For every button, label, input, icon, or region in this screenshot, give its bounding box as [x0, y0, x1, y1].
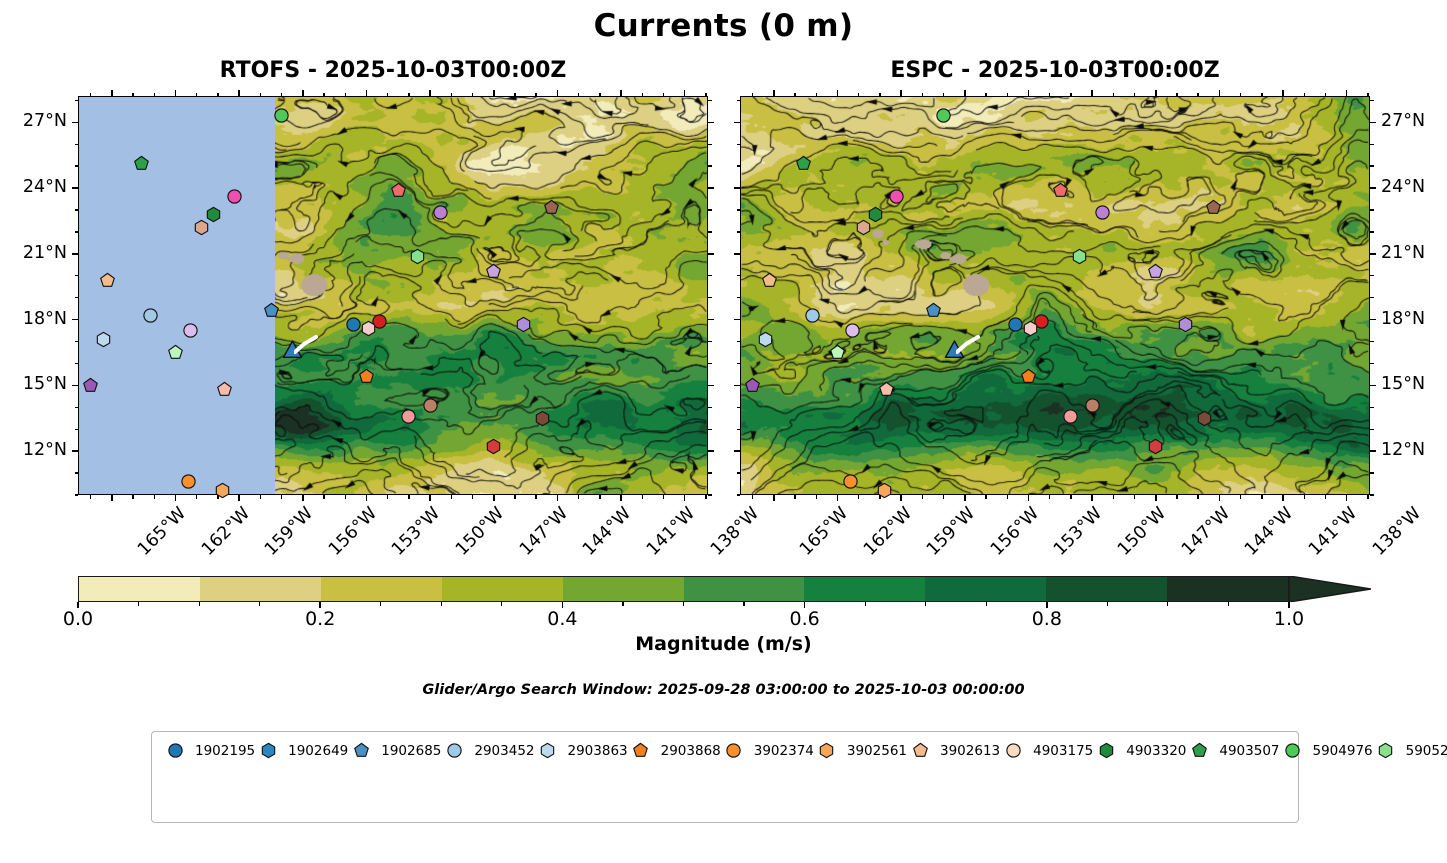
float-marker[interactable]	[879, 382, 894, 397]
legend-item[interactable]: 1902195	[162, 740, 255, 762]
ytick-label-left: 18°N	[0, 311, 67, 329]
xtick-minor-top	[985, 93, 986, 97]
ytick-major	[72, 187, 78, 189]
ytick-minor	[737, 363, 741, 364]
float-marker[interactable]	[1008, 317, 1023, 332]
xtick-minor-top	[1007, 93, 1008, 97]
float-legend[interactable]: 1902195190264919026852903452290386329038…	[151, 731, 1299, 823]
float-marker[interactable]	[217, 382, 232, 397]
xtick-major-top	[1028, 90, 1030, 96]
legend-item[interactable]: 5905270	[1373, 740, 1447, 762]
xtick-minor-top	[196, 93, 197, 97]
xtick-minor	[196, 495, 197, 499]
float-marker[interactable]	[758, 332, 773, 347]
xtick-minor-top	[752, 93, 753, 97]
colorbar	[78, 576, 1370, 602]
xtick-major	[1091, 495, 1093, 501]
ytick-minor	[708, 144, 712, 145]
xtick-major	[620, 495, 622, 501]
xtick-major	[302, 495, 304, 501]
xtick-minor	[1113, 495, 1114, 499]
colorbar-band	[684, 577, 805, 601]
circle-marker-icon	[1280, 743, 1306, 758]
float-marker[interactable]	[1072, 249, 1087, 264]
ytick-label-left: 27°N	[0, 113, 67, 131]
xtick-minor-top	[1070, 93, 1071, 97]
pentagon-marker-icon	[348, 743, 374, 758]
xtick-major-top	[1091, 90, 1093, 96]
xtick-major-top	[111, 90, 113, 96]
xtick-label: 147°W	[517, 505, 571, 559]
circle-marker-icon	[721, 743, 747, 758]
float-marker[interactable]	[889, 189, 904, 204]
xtick-label: 147°W	[1179, 505, 1233, 559]
float-marker[interactable]	[274, 108, 289, 123]
xtick-major-top	[557, 90, 559, 96]
ytick-minor	[75, 341, 79, 342]
xtick-minor-top	[599, 93, 600, 97]
xtick-minor	[663, 495, 664, 499]
colorbar-tick-minor	[1228, 602, 1229, 606]
ytick-minor	[75, 297, 79, 298]
figure-canvas: Currents (0 m) RTOFS - 2025-10-03T00:00Z…	[0, 0, 1447, 863]
ytick-minor	[708, 341, 712, 342]
glider-track-sg626	[294, 334, 334, 360]
legend-label: 5904976	[1313, 743, 1373, 759]
xtick-minor-top	[663, 93, 664, 97]
legend-item[interactable]: 3902561	[814, 740, 907, 762]
xtick-minor	[943, 495, 944, 499]
ytick-minor	[708, 209, 712, 210]
float-marker[interactable]	[168, 345, 183, 360]
xtick-minor-top	[1304, 93, 1305, 97]
xtick-minor	[154, 495, 155, 499]
ytick-minor	[1370, 100, 1374, 101]
xtick-major-top	[238, 90, 240, 96]
ytick-label-left: 21°N	[0, 245, 67, 263]
xtick-major	[1155, 495, 1157, 501]
figure-title: Currents (0 m)	[0, 8, 1447, 44]
hexagon-marker-icon	[814, 743, 840, 758]
ytick-minor	[737, 209, 741, 210]
float-marker[interactable]	[227, 189, 242, 204]
colorbar-tick-label: 0.2	[305, 608, 335, 630]
xtick-label: 162°W	[199, 505, 253, 559]
ytick-minor	[737, 407, 741, 408]
map-panel-espc[interactable]	[740, 96, 1370, 495]
float-marker[interactable]	[361, 321, 376, 336]
xtick-minor	[642, 495, 643, 499]
legend-label: 3902561	[847, 743, 907, 759]
legend-label: 4903320	[1126, 743, 1186, 759]
xtick-minor	[1049, 495, 1050, 499]
legend-grid: 1902195190264919026852903452290386329038…	[152, 738, 1298, 824]
float-marker[interactable]	[926, 303, 941, 318]
float-marker[interactable]	[1178, 317, 1193, 332]
xtick-minor	[90, 495, 91, 499]
xtick-minor-top	[260, 93, 261, 97]
legend-item[interactable]: 5904976	[1280, 740, 1373, 762]
ytick-minor	[1370, 231, 1374, 232]
ytick-major	[708, 253, 714, 255]
ytick-minor	[1370, 275, 1374, 276]
ytick-major	[734, 253, 740, 255]
ytick-major	[708, 385, 714, 387]
float-marker[interactable]	[843, 474, 858, 489]
colorbar-tick-minor	[683, 602, 684, 606]
ytick-major	[734, 385, 740, 387]
xtick-major-top	[837, 90, 839, 96]
xtick-minor	[1325, 495, 1326, 499]
xtick-minor-top	[154, 93, 155, 97]
xtick-major	[493, 495, 495, 501]
xtick-minor-top	[451, 93, 452, 97]
xtick-label: 144°W	[1243, 505, 1297, 559]
panel-title-espc: ESPC - 2025-10-03T00:00Z	[740, 58, 1370, 83]
ytick-major	[1370, 450, 1376, 452]
xtick-minor	[1070, 495, 1071, 499]
float-marker[interactable]	[96, 332, 111, 347]
float-marker[interactable]	[486, 264, 501, 279]
xtick-major	[684, 495, 686, 501]
colorbar-tick-label: 0.8	[1032, 608, 1062, 630]
colorbar-tick	[77, 602, 79, 608]
xtick-major	[1028, 495, 1030, 501]
xtick-major-top	[620, 90, 622, 96]
xtick-major	[773, 495, 775, 501]
xtick-minor-top	[1240, 93, 1241, 97]
ytick-minor	[737, 100, 741, 101]
float-marker[interactable]	[856, 220, 871, 235]
float-marker[interactable]	[1023, 321, 1038, 336]
float-marker[interactable]	[194, 220, 209, 235]
float-marker[interactable]	[391, 183, 406, 198]
current-magnitude-field-espc	[741, 97, 1369, 494]
xtick-major-top	[773, 90, 775, 96]
ytick-minor	[708, 472, 712, 473]
xtick-minor-top	[705, 93, 706, 97]
ytick-label-left: 12°N	[0, 442, 67, 460]
xtick-major-top	[302, 90, 304, 96]
xtick-major	[1346, 495, 1348, 501]
colorbar-tick	[1046, 602, 1048, 608]
xtick-minor-top	[1134, 93, 1135, 97]
legend-item[interactable]: 2903868	[628, 740, 721, 762]
xtick-minor	[132, 495, 133, 499]
xtick-major-top	[900, 90, 902, 96]
ytick-minor	[708, 429, 712, 430]
float-marker[interactable]	[544, 200, 559, 215]
colorbar-tick-minor	[138, 602, 139, 606]
ytick-minor	[1370, 429, 1374, 430]
circle-marker-icon	[441, 743, 467, 758]
ytick-minor	[737, 341, 741, 342]
ytick-minor	[1370, 144, 1374, 145]
xtick-minor	[922, 495, 923, 499]
xtick-minor	[1240, 495, 1241, 499]
ytick-minor	[75, 100, 79, 101]
xtick-minor-top	[1113, 93, 1114, 97]
ytick-minor	[708, 407, 712, 408]
float-marker[interactable]	[1148, 439, 1163, 454]
xtick-minor-top	[1325, 93, 1326, 97]
ytick-minor	[737, 165, 741, 166]
float-marker[interactable]	[359, 369, 374, 384]
legend-label: 4903507	[1219, 743, 1279, 759]
xtick-minor-top	[472, 93, 473, 97]
float-marker[interactable]	[1063, 409, 1078, 424]
legend-item[interactable]: 4903320	[1093, 740, 1186, 762]
legend-label: 4903175	[1033, 743, 1093, 759]
ytick-major	[72, 253, 78, 255]
ytick-minor	[737, 275, 741, 276]
float-marker[interactable]	[143, 308, 158, 323]
ytick-minor	[75, 429, 79, 430]
xtick-major	[429, 495, 431, 501]
ytick-minor	[708, 297, 712, 298]
float-marker[interactable]	[423, 398, 438, 413]
ytick-major	[1370, 385, 1376, 387]
legend-label: 2903863	[568, 743, 628, 759]
xtick-label: 150°W	[1116, 505, 1170, 559]
legend-label: 3902374	[754, 743, 814, 759]
ytick-minor	[708, 275, 712, 276]
xtick-major-top	[429, 90, 431, 96]
ytick-minor	[1370, 209, 1374, 210]
xtick-label: 156°W	[988, 505, 1042, 559]
colorbar-tick-label: 0.6	[789, 608, 819, 630]
colorbar-tick	[319, 602, 321, 608]
float-marker[interactable]	[134, 156, 149, 171]
colorbar-tick-label: 0.0	[63, 608, 93, 630]
ytick-minor	[1370, 494, 1374, 495]
colorbar-tick	[804, 602, 806, 608]
ytick-label-right: 27°N	[1381, 113, 1425, 131]
xtick-major	[837, 495, 839, 501]
xtick-major	[238, 495, 240, 501]
xtick-major	[557, 495, 559, 501]
xtick-label: 138°W	[708, 505, 762, 559]
colorbar-band	[925, 577, 1046, 601]
float-marker[interactable]	[100, 273, 115, 288]
search-window-caption: Glider/Argo Search Window: 2025-09-28 03…	[0, 682, 1447, 698]
float-marker[interactable]	[762, 273, 777, 288]
xtick-major	[1219, 495, 1221, 501]
xtick-minor	[451, 495, 452, 499]
pentagon-marker-icon	[628, 743, 654, 758]
legend-item[interactable]: 3902374	[721, 740, 814, 762]
xtick-minor-top	[794, 93, 795, 97]
xtick-minor	[816, 495, 817, 499]
ytick-minor	[737, 297, 741, 298]
xtick-major-top	[1155, 90, 1157, 96]
float-marker[interactable]	[215, 483, 230, 498]
xtick-minor-top	[535, 93, 536, 97]
float-marker[interactable]	[1021, 369, 1036, 384]
ytick-minor	[737, 144, 741, 145]
colorbar-tick-minor	[259, 602, 260, 606]
xtick-label: 159°W	[263, 505, 317, 559]
legend-item[interactable]: 2903863	[535, 740, 628, 762]
ytick-minor	[1370, 363, 1374, 364]
xtick-label: 141°W	[644, 505, 698, 559]
xtick-minor	[535, 495, 536, 499]
legend-item[interactable]: 2903452	[441, 740, 534, 762]
float-marker[interactable]	[805, 308, 820, 323]
xtick-major-top	[1282, 90, 1284, 96]
float-marker[interactable]	[745, 378, 760, 393]
ytick-minor	[75, 231, 79, 232]
xtick-minor-top	[217, 93, 218, 97]
float-marker[interactable]	[845, 323, 860, 338]
panel-title-rtofs: RTOFS - 2025-10-03T00:00Z	[78, 58, 708, 83]
float-marker[interactable]	[1053, 183, 1068, 198]
ytick-minor	[737, 494, 741, 495]
xtick-major-top	[964, 90, 966, 96]
float-marker[interactable]	[346, 317, 361, 332]
xtick-minor	[1304, 495, 1305, 499]
colorbar-tick-label: 0.4	[547, 608, 577, 630]
legend-item[interactable]: 1902649	[255, 740, 348, 762]
xtick-major-top	[1219, 90, 1221, 96]
colorbar-bands	[78, 576, 1289, 602]
legend-item[interactable]: 3902613	[907, 740, 1000, 762]
float-marker[interactable]	[1095, 205, 1110, 220]
xtick-label: 153°W	[1052, 505, 1106, 559]
xtick-label: 153°W	[390, 505, 444, 559]
ytick-minor	[708, 100, 712, 101]
legend-item[interactable]: 4903175	[1000, 740, 1093, 762]
colorbar-band	[1046, 577, 1167, 601]
xtick-minor-top	[1261, 93, 1262, 97]
xtick-minor-top	[90, 93, 91, 97]
map-panel-rtofs[interactable]	[78, 96, 708, 495]
ytick-minor	[1370, 165, 1374, 166]
hexagon-marker-icon	[1373, 743, 1399, 758]
ytick-major	[1370, 187, 1376, 189]
float-marker[interactable]	[410, 249, 425, 264]
float-marker[interactable]	[486, 439, 501, 454]
xtick-minor-top	[1049, 93, 1050, 97]
xtick-major-top	[175, 90, 177, 96]
xtick-label: 159°W	[925, 505, 979, 559]
colorbar-tick	[1288, 602, 1290, 608]
xtick-minor-top	[922, 93, 923, 97]
float-marker[interactable]	[264, 303, 279, 318]
float-marker[interactable]	[796, 156, 811, 171]
xtick-minor	[1007, 495, 1008, 499]
xtick-major-top	[366, 90, 368, 96]
float-marker[interactable]	[1197, 411, 1212, 426]
float-marker[interactable]	[183, 323, 198, 338]
float-marker[interactable]	[433, 205, 448, 220]
ytick-minor	[75, 275, 79, 276]
xtick-minor	[752, 495, 753, 499]
ytick-minor	[75, 209, 79, 210]
colorbar-extend-arrow	[1289, 576, 1371, 602]
xtick-minor	[599, 495, 600, 499]
ytick-label-right: 18°N	[1381, 311, 1425, 329]
hexagon-marker-icon	[535, 743, 561, 758]
colorbar-tick-minor	[1167, 602, 1168, 606]
ytick-label-right: 21°N	[1381, 245, 1425, 263]
xtick-minor-top	[281, 93, 282, 97]
xtick-major	[1282, 495, 1284, 501]
ytick-minor	[737, 429, 741, 430]
float-marker[interactable]	[516, 317, 531, 332]
xtick-minor	[260, 495, 261, 499]
float-marker[interactable]	[936, 108, 951, 123]
colorbar-tick	[562, 602, 564, 608]
xtick-minor	[323, 495, 324, 499]
pentagon-marker-icon	[907, 743, 933, 758]
legend-item[interactable]: 1902685	[348, 740, 441, 762]
xtick-major-top	[684, 90, 686, 96]
xtick-minor-top	[578, 93, 579, 97]
xtick-minor	[1197, 495, 1198, 499]
ytick-label-left: 24°N	[0, 179, 67, 197]
ytick-minor	[1370, 472, 1374, 473]
ytick-minor	[1370, 341, 1374, 342]
colorbar-band	[442, 577, 563, 601]
xtick-minor-top	[408, 93, 409, 97]
xtick-minor	[705, 495, 706, 499]
colorbar-tick-minor	[380, 602, 381, 606]
xtick-label: 165°W	[797, 505, 851, 559]
float-marker[interactable]	[181, 474, 196, 489]
ytick-minor	[75, 407, 79, 408]
xtick-major	[111, 495, 113, 501]
float-marker[interactable]	[401, 409, 416, 424]
legend-label: 1902685	[381, 743, 441, 759]
colorbar-band	[79, 577, 200, 601]
ytick-major	[708, 319, 714, 321]
legend-label: 2903868	[661, 743, 721, 759]
xtick-minor	[281, 495, 282, 499]
xtick-label: 162°W	[861, 505, 915, 559]
float-marker[interactable]	[877, 483, 892, 498]
ytick-major	[1370, 319, 1376, 321]
xtick-label: 144°W	[581, 505, 635, 559]
xtick-minor-top	[1197, 93, 1198, 97]
xtick-minor-top	[642, 93, 643, 97]
ytick-minor	[1370, 407, 1374, 408]
float-marker[interactable]	[83, 378, 98, 393]
legend-item[interactable]: 4903507	[1186, 740, 1279, 762]
colorbar-tick-label: 1.0	[1274, 608, 1304, 630]
xtick-minor-top	[345, 93, 346, 97]
ytick-major	[1370, 253, 1376, 255]
nodata-region-rtofs	[79, 97, 275, 494]
ytick-minor	[75, 363, 79, 364]
ytick-minor	[708, 231, 712, 232]
float-marker[interactable]	[1085, 398, 1100, 413]
float-marker[interactable]	[1206, 200, 1221, 215]
float-marker[interactable]	[1148, 264, 1163, 279]
hexagon-marker-icon	[1093, 743, 1119, 758]
xtick-label: 150°W	[454, 505, 508, 559]
xtick-minor	[1134, 495, 1135, 499]
ytick-minor	[1370, 297, 1374, 298]
ytick-major	[708, 122, 714, 124]
xtick-minor-top	[1367, 93, 1368, 97]
legend-label: 1902649	[288, 743, 348, 759]
float-marker[interactable]	[535, 411, 550, 426]
colorbar-tick-minor	[925, 602, 926, 606]
pentagon-marker-icon	[1186, 743, 1212, 758]
float-marker[interactable]	[830, 345, 845, 360]
xtick-minor-top	[943, 93, 944, 97]
